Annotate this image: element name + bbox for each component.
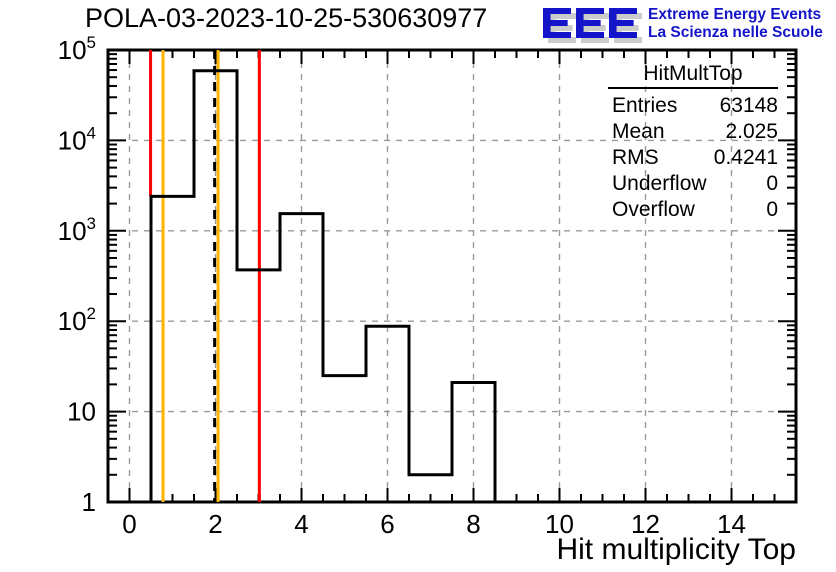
root-canvas: POLA-03-2023-10-25-530630977 Extreme Ene… <box>0 0 836 572</box>
logo-line1: Extreme Energy Events <box>648 6 821 23</box>
x-axis-title: Hit multiplicity Top <box>556 533 796 566</box>
x-tick-label: 8 <box>466 509 480 539</box>
eee-letter-2-spine <box>609 8 617 38</box>
eee-letter-0-spine <box>543 8 551 38</box>
stats-row-label: RMS <box>612 146 659 169</box>
stats-row-label: Entries <box>612 94 677 117</box>
stats-title: HitMultTop <box>643 62 742 85</box>
x-tick-label: 6 <box>380 509 394 539</box>
stats-row-value: 0 <box>766 198 778 221</box>
stats-row-label: Underflow <box>612 172 707 195</box>
stats-row-label: Mean <box>612 120 665 143</box>
stats-row-value: 0 <box>766 172 778 195</box>
x-tick-label: 4 <box>294 509 308 539</box>
y-tick-label: 10 <box>67 397 96 427</box>
eee-logo: Extreme Energy EventsLa Scienza nelle Sc… <box>543 6 823 43</box>
y-tick-label: 1 <box>82 487 96 517</box>
x-tick-label: 0 <box>122 509 136 539</box>
stats-row-value: 2.025 <box>725 120 778 143</box>
stats-row-value: 63148 <box>720 94 778 117</box>
logo-line2: La Scienza nelle Scuole <box>648 24 823 41</box>
page-title: POLA-03-2023-10-25-530630977 <box>85 3 487 33</box>
eee-letter-1-spine <box>576 8 584 38</box>
stats-row-label: Overflow <box>612 198 696 221</box>
x-tick-label: 2 <box>208 509 222 539</box>
histogram-figure: POLA-03-2023-10-25-530630977 Extreme Ene… <box>0 0 836 572</box>
stats-row-value: 0.4241 <box>714 146 778 169</box>
figure-background <box>0 0 836 572</box>
